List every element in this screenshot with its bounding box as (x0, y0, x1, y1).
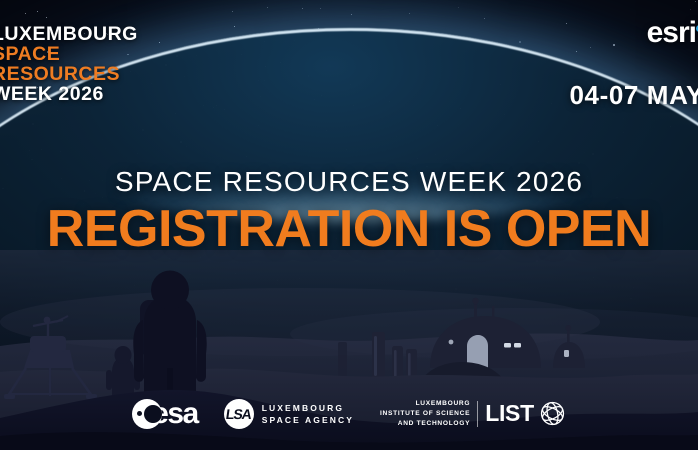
esri-logo: esri (647, 18, 698, 48)
headline-main: REGISTRATION IS OPEN (0, 202, 698, 257)
list-full-name: LUXEMBOURG INSTITUTE OF SCIENCE AND TECH… (380, 399, 477, 429)
wordmark-line-luxembourg: LUXEMBOURG (0, 24, 138, 44)
wordmark-line-resources: RESOURCES (0, 64, 138, 84)
star (46, 17, 47, 18)
lsa-line-1: LUXEMBOURG (262, 402, 354, 414)
list-logo-text: LIST (485, 402, 534, 425)
star (566, 23, 567, 24)
star (458, 7, 459, 8)
lsa-wordmark: LUXEMBOURG SPACE AGENCY (262, 402, 354, 427)
star (409, 13, 410, 14)
wordmark-line-week-2026: WEEK 2026 (0, 84, 138, 104)
list-line-2: INSTITUTE OF SCIENCE (380, 409, 470, 419)
event-wordmark: LUXEMBOURG SPACE RESOURCES WEEK 2026 (0, 24, 138, 104)
esri-logo-text: esri (647, 18, 696, 48)
star (25, 13, 26, 14)
headline-block: SPACE RESOURCES WEEK 2026 REGISTRATION I… (0, 166, 698, 257)
lsa-circle-icon: LSA (224, 399, 254, 429)
globe-sphere-icon (539, 400, 566, 427)
star (351, 14, 352, 15)
lsa-line-2: SPACE AGENCY (262, 414, 354, 426)
star (267, 7, 268, 8)
star (37, 11, 38, 12)
star (690, 9, 691, 10)
headline-subtitle: SPACE RESOURCES WEEK 2026 (0, 166, 698, 198)
list-line-3: AND TECHNOLOGY (380, 419, 470, 429)
star (484, 18, 485, 19)
logo-esa: esa (132, 399, 198, 429)
star (232, 11, 233, 12)
logo-list: LUXEMBOURG INSTITUTE OF SCIENCE AND TECH… (380, 399, 566, 429)
event-promo-banner: LUXEMBOURG SPACE RESOURCES WEEK 2026 esr… (0, 0, 698, 450)
wordmark-line-space: SPACE (0, 44, 138, 64)
partner-logo-bar: esa LSA LUXEMBOURG SPACE AGENCY LUXEMBOU… (0, 386, 698, 442)
star (695, 1, 696, 2)
list-divider (477, 401, 478, 427)
star (302, 8, 303, 9)
esa-circle-icon (132, 399, 162, 429)
star (320, 8, 321, 9)
logo-lsa: LSA LUXEMBOURG SPACE AGENCY (224, 399, 354, 429)
lsa-mark-text: LSA (225, 406, 252, 422)
list-line-1: LUXEMBOURG (380, 399, 470, 409)
event-date: 04-07 MAY (569, 80, 698, 111)
